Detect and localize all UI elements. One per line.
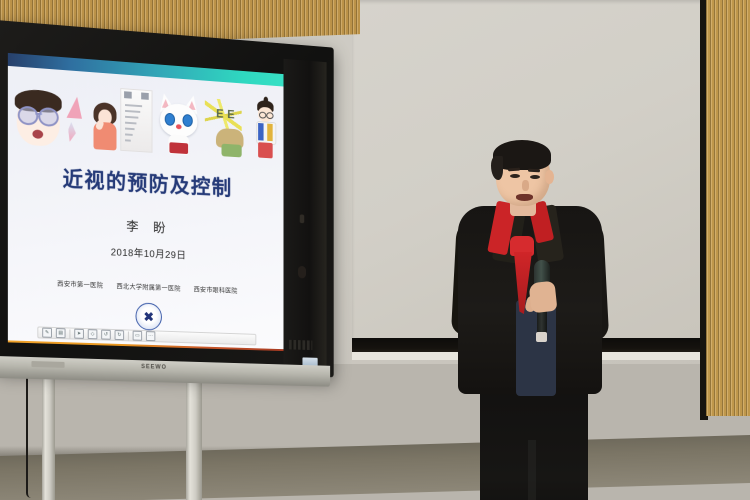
panel-label-plate <box>31 361 64 368</box>
presenter-hair-side <box>491 156 503 180</box>
room-floor <box>0 435 750 500</box>
wood-slat-wall-right <box>706 0 750 416</box>
affiliation-item: 西北大学附属第一医院 <box>116 280 180 292</box>
affiliation-item: 西安市眼科医院 <box>194 283 238 294</box>
presenter-eyebrow-right <box>528 169 540 173</box>
more-icon[interactable]: ⋯ <box>146 331 155 341</box>
microphone-base-tip <box>536 332 547 342</box>
presenter-hand <box>529 281 558 314</box>
toolbar-divider <box>69 329 70 338</box>
presentation-slide: EE 近视的预防及控制 李 盼 2018年10月29日 西安市第一 <box>8 53 284 351</box>
panel-right-bezel <box>284 59 327 366</box>
display-stand-post-right <box>186 368 202 500</box>
redo-icon[interactable]: ↻ <box>115 330 125 340</box>
presenter-nose <box>522 180 529 191</box>
pointer-icon[interactable]: ➤ <box>74 329 84 339</box>
display-stand-post-left <box>42 372 55 500</box>
presenter-ear <box>545 170 554 184</box>
undo-icon[interactable]: ↺ <box>101 330 111 340</box>
presenter-shirt <box>516 300 556 396</box>
girl-rubbing-eye-icon <box>90 102 119 151</box>
interactive-flat-panel-display[interactable]: EE 近视的预防及控制 李 盼 2018年10月29日 西安市第一 <box>0 20 334 377</box>
panel-power-button[interactable] <box>300 214 304 223</box>
e-chart-kid-icon: EE <box>205 98 251 159</box>
page-icon[interactable]: ▭ <box>133 331 142 341</box>
shape-icon[interactable]: ◇ <box>88 329 98 339</box>
presenter-person <box>452 140 612 500</box>
boy-standing-icon <box>252 100 279 161</box>
slide-affiliations: 西安市第一医院 西北大学附属第一医院 西安市眼科医院 <box>8 275 284 296</box>
power-cable <box>26 378 31 498</box>
white-fox-mascot-icon <box>154 92 204 156</box>
panel-screen-area[interactable]: EE 近视的预防及控制 李 盼 2018年10月29日 西安市第一 <box>8 53 284 351</box>
presentation-photo-scene: EE 近视的预防及控制 李 盼 2018年10月29日 西安市第一 <box>0 0 750 500</box>
panel-speaker-grille <box>289 340 312 350</box>
slide-title: 近视的预防及控制 <box>8 160 284 205</box>
pink-kite-icon <box>64 90 89 149</box>
presenter-eye-right <box>530 175 540 179</box>
presenter-mouth <box>516 194 533 201</box>
pen-icon[interactable]: ✎ <box>42 328 52 338</box>
toolbar-divider <box>128 331 129 340</box>
slide-date: 2018年10月29日 <box>8 239 284 267</box>
panel-brand-label: SEEWO <box>141 364 167 371</box>
eraser-icon[interactable]: ▤ <box>56 328 66 338</box>
presenter-eye-left <box>510 174 520 178</box>
presenter-leg-separation <box>528 440 536 500</box>
hospital-emblem-icon <box>135 302 161 330</box>
panel-menu-button[interactable] <box>298 266 306 279</box>
slide-presenter-name: 李 盼 <box>8 210 284 243</box>
eye-chart-icon <box>120 88 152 153</box>
affiliation-item: 西安市第一医院 <box>57 278 103 290</box>
boy-with-glasses-face-icon <box>12 86 63 147</box>
